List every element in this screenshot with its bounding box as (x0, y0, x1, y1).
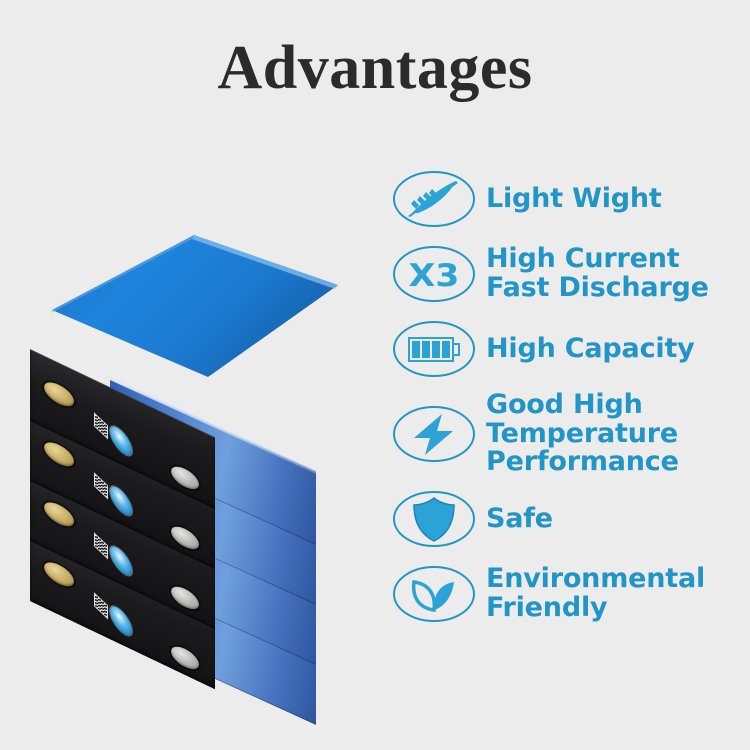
battery-cell (18, 343, 388, 493)
feature-label: Environmental Friendly (486, 565, 740, 623)
feature-item-high-temperature-performance: Good High Temperature Performance (392, 386, 740, 482)
negative-terminal (171, 522, 199, 553)
brand-sticker (110, 421, 132, 461)
positive-terminal (44, 378, 74, 411)
battery-cell-front (30, 349, 215, 509)
feature-item-light-weight: Light Wight (392, 168, 740, 230)
negative-terminal (171, 582, 199, 613)
product-image-battery-stack (18, 225, 388, 615)
feature-label: High Capacity (486, 335, 740, 364)
feature-label: Good High Temperature Performance (486, 391, 740, 478)
feature-item-environmental-friendly: Environmental Friendly (392, 556, 740, 632)
page-title: Advantages (0, 34, 750, 102)
x3-text: X3 (409, 257, 460, 294)
x3-badge-icon: X3 (392, 236, 476, 312)
feature-label: Safe (486, 505, 740, 534)
negative-terminal (171, 642, 199, 673)
negative-terminal (171, 462, 199, 493)
lightning-bolt-icon (392, 386, 476, 482)
feature-label: Light Wight (486, 185, 740, 214)
battery-icon (392, 318, 476, 380)
feather-icon (392, 168, 476, 230)
feature-item-high-capacity: High Capacity (392, 318, 740, 380)
advantages-infographic: Advantages (0, 0, 750, 750)
qr-code-label (94, 412, 108, 439)
advantages-feature-list: Light Wight X3 High Current Fast Dischar… (392, 168, 740, 638)
feature-item-safe: Safe (392, 488, 740, 550)
leaves-icon (392, 556, 476, 632)
shield-icon (392, 488, 476, 550)
feature-item-high-current-fast-discharge: X3 High Current Fast Discharge (392, 236, 740, 312)
feature-label: High Current Fast Discharge (486, 245, 740, 303)
